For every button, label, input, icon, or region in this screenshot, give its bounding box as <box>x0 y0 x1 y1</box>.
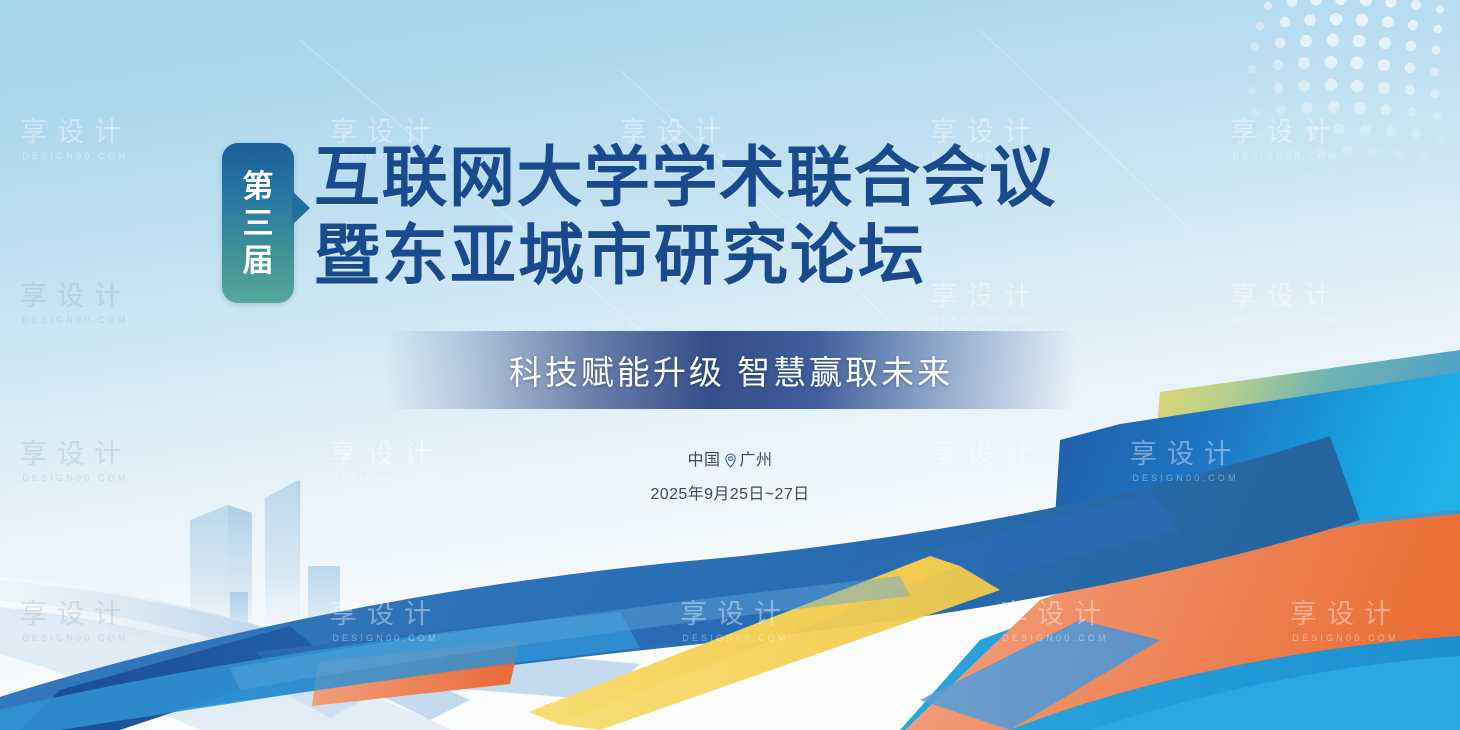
watermark-domain: DESIGN00.COM <box>1290 633 1401 643</box>
edition-badge-char-2: 三 <box>243 208 274 239</box>
location-pin-icon <box>724 453 737 468</box>
event-date: 2025年9月25日~27日 <box>0 483 1460 507</box>
conference-poster: 享设计 DESIGN00.COM 享设计 DESIGN00.COM 享设计 DE… <box>0 0 1460 730</box>
location-country: 中国 <box>687 448 720 474</box>
watermark-text: 享设计 <box>20 600 131 630</box>
page-title-line-2: 暨东亚城市研究论坛 <box>314 217 1057 295</box>
slogan-text: 科技赋能升级 智慧赢取未来 <box>509 346 953 394</box>
slogan-band: 科技赋能升级 智慧赢取未来 <box>386 331 1076 409</box>
watermark-text: 享设计 <box>20 282 131 312</box>
watermark-text: 享设计 <box>1230 118 1341 148</box>
edition-badge: 第 三 届 <box>222 143 294 303</box>
watermark-text: 享设计 <box>1290 600 1401 630</box>
badge-arrow-icon <box>292 191 310 225</box>
watermark-domain: DESIGN00.COM <box>20 315 131 325</box>
title-block: 互联网大学学术联合会议 暨东亚城市研究论坛 <box>314 139 1057 295</box>
watermark-domain: DESIGN00.COM <box>1230 151 1341 161</box>
watermark-domain: DESIGN00.COM <box>930 315 1041 325</box>
watermark-domain: DESIGN00.COM <box>1230 315 1341 325</box>
watermark-text: 享设计 <box>1230 282 1341 312</box>
watermark-text: 享设计 <box>1000 600 1111 630</box>
event-meta: 中国 广州 2025年9月25日~27日 <box>0 448 1460 507</box>
watermark-domain: DESIGN00.COM <box>680 633 791 643</box>
watermark-text: 享设计 <box>680 600 791 630</box>
edition-badge-char-1: 第 <box>243 171 274 202</box>
location-city: 广州 <box>740 448 773 474</box>
watermark-domain: DESIGN00.COM <box>1000 633 1111 643</box>
page-title-line-1: 互联网大学学术联合会议 <box>314 139 1057 217</box>
watermark-text: 享设计 <box>20 118 131 148</box>
watermark-domain: DESIGN00.COM <box>20 633 131 643</box>
watermark-text: 享设计 <box>330 600 441 630</box>
edition-badge-char-3: 届 <box>243 245 274 276</box>
watermark-domain: DESIGN00.COM <box>330 633 441 643</box>
watermark-domain: DESIGN00.COM <box>20 151 131 161</box>
title-row: 第 三 届 互联网大学学术联合会议 暨东亚城市研究论坛 <box>222 143 1057 303</box>
event-location: 中国 广州 <box>0 448 1460 474</box>
